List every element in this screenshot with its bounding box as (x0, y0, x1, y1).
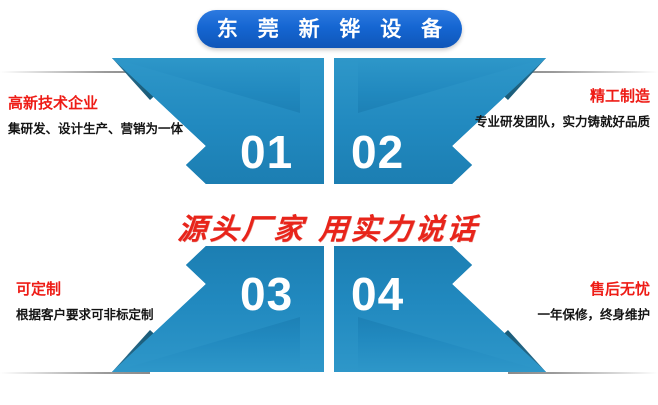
feature-heading-03: 可定制 (16, 281, 154, 299)
step-number-03: 03 (240, 271, 293, 317)
feature-heading-04: 售后无忧 (537, 281, 650, 299)
step-number-01: 01 (240, 129, 293, 175)
fold-accent-03 (112, 330, 196, 372)
infographic-canvas: 东 莞 新 铧 设 备 01 02 03 04 高新技术企业 集研发、设计生产、… (0, 0, 658, 405)
center-slogan-text: 源头厂家 用实力说话 (177, 206, 481, 248)
fold-accent-01 (112, 58, 196, 100)
arrow-body-04-sweep (428, 246, 546, 372)
feature-subtitle-04: 一年保修，终身维护 (537, 308, 650, 323)
feature-heading-02: 精工制造 (475, 88, 650, 106)
banner-title-text: 东 莞 新 铧 设 备 (210, 19, 449, 40)
arrow-graphics (0, 0, 658, 405)
feature-block-04: 售后无忧 一年保修，终身维护 (537, 281, 650, 323)
title-banner: 东 莞 新 铧 设 备 (197, 10, 462, 48)
fold-accent-04 (462, 330, 546, 372)
feature-subtitle-03: 根据客户要求可非标定制 (16, 308, 154, 323)
arrow-body-03-rounded-edge (300, 246, 324, 372)
feature-block-02: 精工制造 专业研发团队，实力铸就好品质 (475, 88, 650, 130)
arrow-body-01-rounded-edge (300, 58, 324, 184)
feature-block-03: 可定制 根据客户要求可非标定制 (16, 281, 154, 323)
feature-subtitle-01: 集研发、设计生产、营销为一体 (8, 122, 183, 137)
feature-block-01: 高新技术企业 集研发、设计生产、营销为一体 (8, 95, 183, 137)
feature-heading-01: 高新技术企业 (8, 95, 183, 113)
center-slogan: 源头厂家 用实力说话 (0, 206, 658, 248)
divider-top-left (0, 71, 150, 73)
feature-subtitle-02: 专业研发团队，实力铸就好品质 (475, 115, 650, 130)
step-number-02: 02 (351, 129, 404, 175)
divider-bottom-left (0, 372, 150, 374)
step-number-04: 04 (351, 271, 404, 317)
divider-top-right (508, 71, 658, 73)
divider-bottom-right (508, 372, 658, 374)
